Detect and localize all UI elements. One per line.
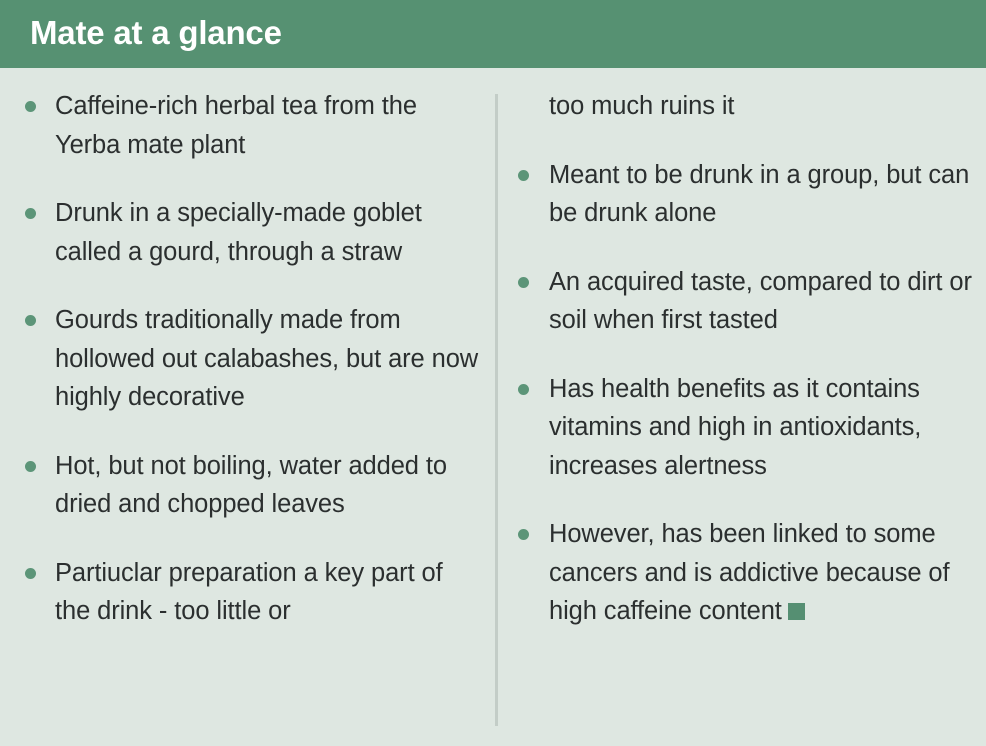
bullet-column-left: Caffeine-rich herbal tea from the Yerba … <box>0 68 480 661</box>
list-item: Drunk in a specially-made goblet called … <box>22 194 480 271</box>
list-item: Hot, but not boiling, water added to dri… <box>22 447 480 524</box>
slide-body: Caffeine-rich herbal tea from the Yerba … <box>0 68 986 746</box>
slide-header-bar: Mate at a glance <box>0 0 986 68</box>
list-item: Meant to be drunk in a group, but can be… <box>515 156 986 233</box>
list-item-text: However, has been linked to some cancers… <box>549 520 950 625</box>
bullet-dot-icon <box>25 568 36 579</box>
list-item-text: Partiuclar preparation a key part of the… <box>55 559 443 626</box>
list-item: Gourds traditionally made from hollowed … <box>22 301 480 417</box>
slide-root: Mate at a glance Caffeine-rich herbal te… <box>0 0 986 746</box>
bullet-dot-icon <box>25 208 36 219</box>
list-item: Caffeine-rich herbal tea from the Yerba … <box>22 87 480 164</box>
bullet-dot-icon <box>518 529 529 540</box>
list-item-text: Caffeine-rich herbal tea from the Yerba … <box>55 92 417 159</box>
list-item: Partiuclar preparation a key part of the… <box>22 554 480 631</box>
bullet-dot-icon <box>518 170 529 181</box>
list-item-text: Drunk in a specially-made goblet called … <box>55 199 422 266</box>
list-item: An acquired taste, compared to dirt or s… <box>515 263 986 340</box>
bullet-dot-icon <box>25 315 36 326</box>
list-item-text: Meant to be drunk in a group, but can be… <box>549 161 969 228</box>
bullet-dot-icon <box>518 277 529 288</box>
list-item: However, has been linked to some cancers… <box>515 515 986 631</box>
list-item-text: Gourds traditionally made from hollowed … <box>55 306 478 411</box>
list-item-continuation: too much ruins it <box>515 87 986 126</box>
bullet-dot-icon <box>518 384 529 395</box>
column-divider <box>495 94 498 726</box>
list-item-text: Has health benefits as it contains vitam… <box>549 375 921 480</box>
end-of-list-square-icon <box>788 603 805 620</box>
bullet-dot-icon <box>25 101 36 112</box>
list-item: Has health benefits as it contains vitam… <box>515 370 986 486</box>
list-item-text: Hot, but not boiling, water added to dri… <box>55 452 447 519</box>
page-title: Mate at a glance <box>30 13 282 53</box>
list-item-text: An acquired taste, compared to dirt or s… <box>549 268 972 335</box>
bullet-column-right: too much ruins it Meant to be drunk in a… <box>515 68 986 661</box>
bullet-dot-icon <box>25 461 36 472</box>
list-item-text: too much ruins it <box>549 92 734 120</box>
